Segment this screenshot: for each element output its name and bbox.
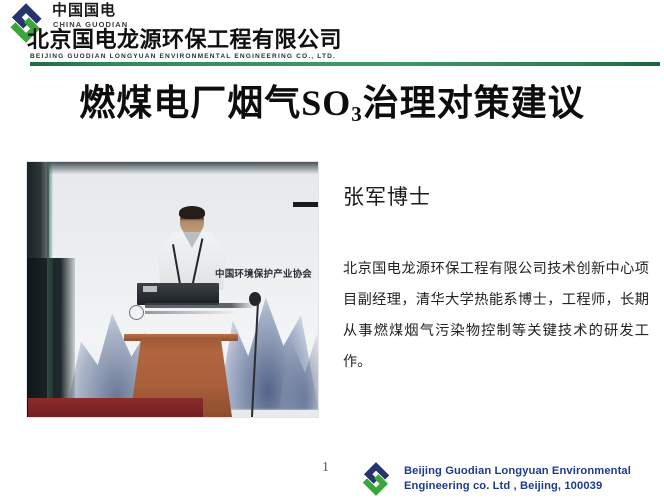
slide-root: 中国国电 CHINA GUODIAN 北京国电龙源环保工程有限公司 BEIJIN… — [0, 0, 664, 502]
photo-mic-stand — [251, 300, 259, 417]
title-formula-so: SO — [301, 83, 351, 123]
photo-mic-stand-head — [249, 292, 261, 306]
photo-event-emblem-icon — [129, 305, 144, 320]
speaker-bio: 北京国电龙源环保工程有限公司技术创新中心项目副经理，清华大学热能系博士，工程师，… — [343, 254, 649, 378]
photo-console-display — [143, 286, 157, 292]
header-divider — [30, 62, 660, 66]
footer-line-1: Beijing Guodian Longyuan Environmental — [404, 465, 631, 477]
speaker-name: 张军博士 — [343, 181, 431, 211]
photo-event-title-bar — [145, 303, 255, 308]
footer-guodian-logo-icon — [356, 462, 396, 496]
title-part2: 治理对策建议 — [363, 83, 585, 124]
photo-event-subtitle-bar — [145, 311, 237, 314]
photo-backdrop-text: 中国环境保护产业协会 — [215, 266, 312, 280]
page-title: 燃煤电厂烟气SO3治理对策建议 — [0, 80, 664, 131]
title-part1: 燃煤电厂烟气 — [79, 83, 301, 124]
photo-speaker-hair — [179, 206, 205, 219]
footer-company-text: Beijing Guodian Longyuan Environmental E… — [404, 464, 631, 494]
slide-header: 中国国电 CHINA GUODIAN 北京国电龙源环保工程有限公司 BEIJIN… — [0, 0, 664, 68]
photo-red-carpet — [28, 398, 203, 417]
footer-line-2: Engineering co. Ltd , Beijing, 100039 — [404, 479, 631, 494]
company-name-cn: 北京国电龙源环保工程有限公司 — [27, 28, 342, 53]
page-number: 1 — [322, 460, 329, 476]
company-name-en: BEIJING GUODIAN LONGYUAN ENVIRONMENTAL E… — [30, 53, 336, 61]
speaker-photo-foreground: 中国环境保护产业协会 — [27, 162, 318, 417]
title-formula-subscript: 3 — [351, 102, 362, 126]
brand-name-cn: 中国国电 — [52, 2, 116, 19]
